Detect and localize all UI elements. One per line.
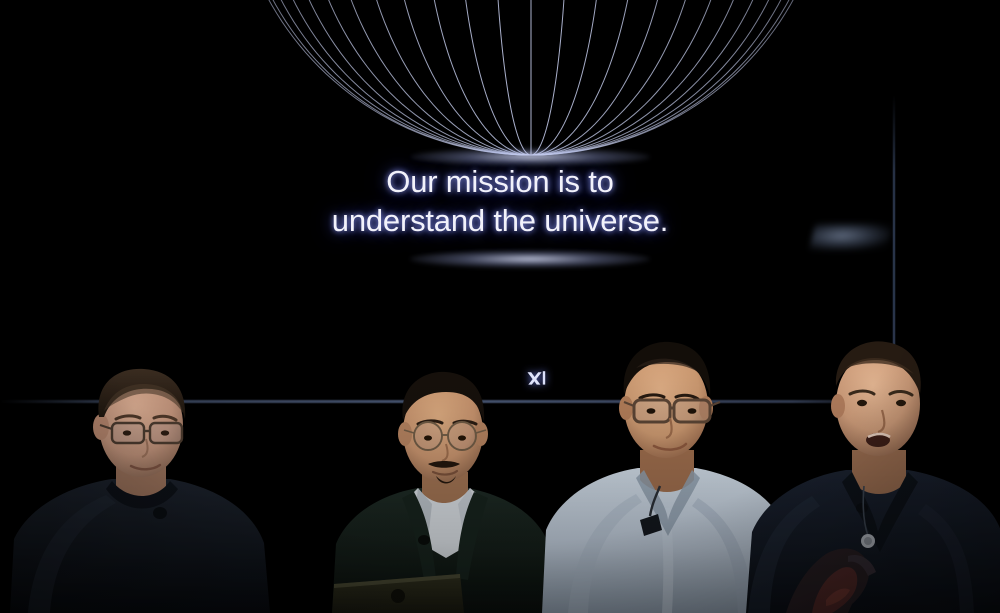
panelist-3-eye-left	[647, 408, 656, 414]
panelist-4-lapel-mic	[856, 503, 868, 513]
panelist-row	[0, 0, 1000, 613]
panelist-1-eye-right	[161, 430, 169, 435]
apple-logo-icon	[391, 589, 405, 603]
panelist-4	[760, 338, 1000, 613]
panelist-1-eye-left	[123, 430, 131, 435]
panelist-4-neck	[852, 450, 906, 494]
panelist-4-eye-left	[857, 400, 867, 406]
panelist-3-ear-left	[619, 396, 633, 420]
panelist-1-figure	[20, 363, 310, 613]
video-frame: Our mission is to understand the univers…	[0, 0, 1000, 613]
panelist-4-figure	[760, 338, 1000, 613]
panelist-2-lapel-mic	[418, 535, 430, 545]
panelist-1-glasses	[100, 423, 182, 443]
panelist-4-eye-right	[896, 400, 906, 406]
panelist-1	[20, 363, 310, 613]
panelist-2-ear-left	[398, 422, 412, 446]
panelist-4-ear	[831, 394, 845, 418]
panelist-1-lapel-mic	[153, 507, 167, 519]
panelist-2-eye-left	[424, 435, 432, 440]
panelist-2-eye-right	[458, 435, 466, 440]
panelist-3-eye-right	[688, 408, 697, 414]
